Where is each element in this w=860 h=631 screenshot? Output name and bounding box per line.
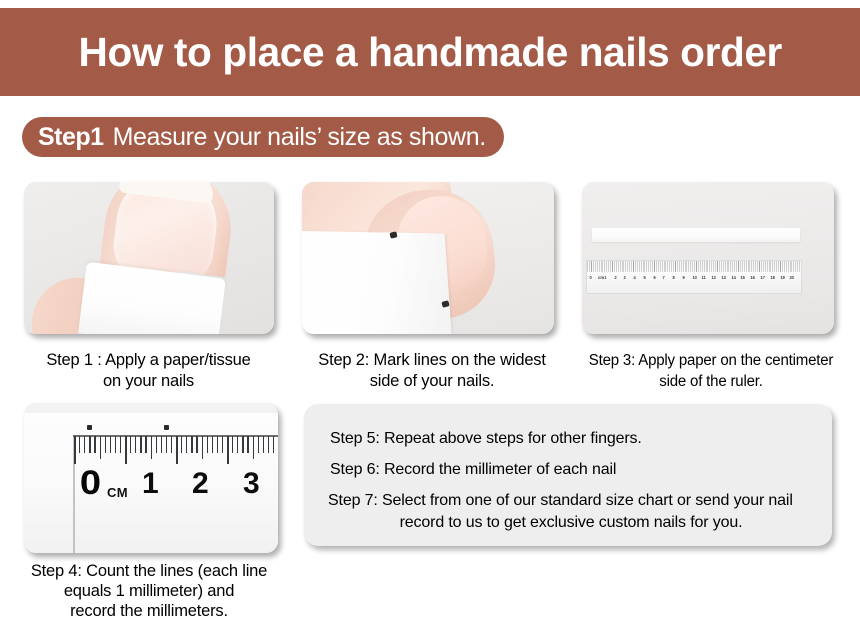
step-7-text-line-2: record to us to get exclusive custom nai… [328,512,814,533]
ruler-tick [232,436,233,453]
ruler-tick [79,436,80,453]
ruler-tick [94,436,95,453]
step1-badge: Step1 Measure your nails’ size as shown. [22,117,504,157]
ruler-tick [268,436,269,453]
ruler-number-9: 9 [682,273,691,283]
ruler-number-13: 13 [721,273,730,283]
mark-lines-photo [302,182,554,334]
ruler-tick [145,436,146,453]
steps-summary-box: Step 5: Repeat above steps for other fin… [304,404,832,546]
step1-label: Step1 [38,123,104,152]
ruler-number-15: 15 [741,273,750,283]
ruler-number-2: 2 [614,273,623,283]
step-7-text-line-1: Step 7: Select from one of our standard … [328,490,814,511]
header-banner: How to place a handmade nails order [0,8,860,96]
ruler-number-16: 16 [751,273,760,283]
step-6-text: Step 6: Record the millimeter of each na… [330,459,616,480]
ruler-tick [196,436,197,453]
ruler-tick [115,436,116,453]
ruler-number-2: 2 [192,469,209,499]
caption-line: equals 1 millimeter) and [4,581,294,601]
ruler-number-17: 17 [761,273,770,283]
ruler-number-0: 0 [589,273,598,283]
ruler-number-5: 5 [643,273,652,283]
long-ruler-shape: 01234567891011121314151617181920 cm [586,260,802,294]
caption-line: side of the ruler. [576,371,846,392]
ruler-tick [105,436,106,453]
ruler-number-10: 10 [692,273,701,283]
ruler-number-scale: 01234567891011121314151617181920 [589,273,799,283]
step-5-text: Step 5: Repeat above steps for other fin… [330,428,642,449]
ruler-tick [247,436,248,453]
ruler-unit-label: CM [107,485,128,500]
ruler-tick [100,436,101,459]
caption-line: record the millimeters. [4,601,294,621]
ruler-tick [207,436,208,453]
ruler-tick [140,436,141,453]
ruler-number-19: 19 [780,273,789,283]
ruler-number-3: 3 [624,273,633,283]
caption-step-1: Step 1 : Apply a paper/tissue on your na… [6,350,291,392]
apply-paper-photo [24,182,274,334]
ruler-tick [130,436,131,453]
ruler-tick [253,436,254,459]
ruler-tick [176,436,178,464]
ruler-tick [202,436,203,459]
ruler-number-4: 4 [634,273,643,283]
ruler-tick [181,436,182,453]
ruler-tick-marks [587,261,801,272]
ruler-number-6: 6 [653,273,662,283]
ruler-tick [110,436,111,453]
paper-strip-shape [592,228,800,242]
ruler-tick [212,436,213,453]
ruler-number-20: 20 [790,273,799,283]
ruler-tick [89,436,90,453]
ruler-zero-label: 0 [80,466,101,500]
caption-line: Step 1 : Apply a paper/tissue [6,350,291,371]
ruler-number-3: 3 [243,469,260,499]
pencil-mark-icon [164,425,169,430]
ruler-unit-label: cm [598,273,604,283]
ruler-tick [237,436,238,453]
ruler-tick [84,436,85,453]
ruler-tick [125,436,127,464]
caption-step-4: Step 4: Count the lines (each line equal… [4,561,294,621]
caption-line: on your nails [6,371,291,392]
ruler-tick [242,436,243,453]
ruler-tick [258,436,259,453]
ruler-tick [186,436,187,453]
ruler-tick [74,436,76,464]
ruler-tick [151,436,152,459]
page-title: How to place a handmade nails order [78,29,781,76]
ruler-tick [171,436,172,453]
ruler-number-8: 8 [673,273,682,283]
caption-line: Step 4: Count the lines (each line [4,561,294,581]
ruler-number-18: 18 [770,273,779,283]
ruler-tick [191,436,192,453]
ruler-tick [161,436,162,453]
paper-on-ruler-photo: 01234567891011121314151617181920 cm [582,182,834,334]
ruler-tick [135,436,136,453]
ruler-number-7: 7 [663,273,672,283]
step1-description: Measure your nails’ size as shown. [113,123,486,152]
ruler-tick [273,436,274,453]
caption-step-2: Step 2: Mark lines on the widest side of… [296,350,568,392]
pencil-mark-icon [87,425,92,430]
ruler-tick [227,436,229,464]
ruler-tick [217,436,218,453]
paper-strip-shape [302,231,452,334]
caption-line: side of your nails. [296,371,568,392]
caption-step-3: Step 3: Apply paper on the centimeter si… [576,350,846,392]
ruler-tick [166,436,167,453]
photo-background [582,182,834,334]
ruler-number-1: 1 [142,469,159,499]
count-lines-photo: 0 CM 1 2 3 [24,403,278,553]
ruler-tick-marks [74,436,278,458]
ruler-number-14: 14 [731,273,740,283]
ruler-tick [263,436,264,453]
ruler-tick [120,436,121,453]
caption-line: Step 2: Mark lines on the widest [296,350,568,371]
ruler-tick [222,436,223,453]
caption-line: Step 3: Apply paper on the centimeter [576,350,846,371]
ruler-number-12: 12 [712,273,721,283]
ruler-tick [156,436,157,453]
ruler-number-11: 11 [702,273,711,283]
